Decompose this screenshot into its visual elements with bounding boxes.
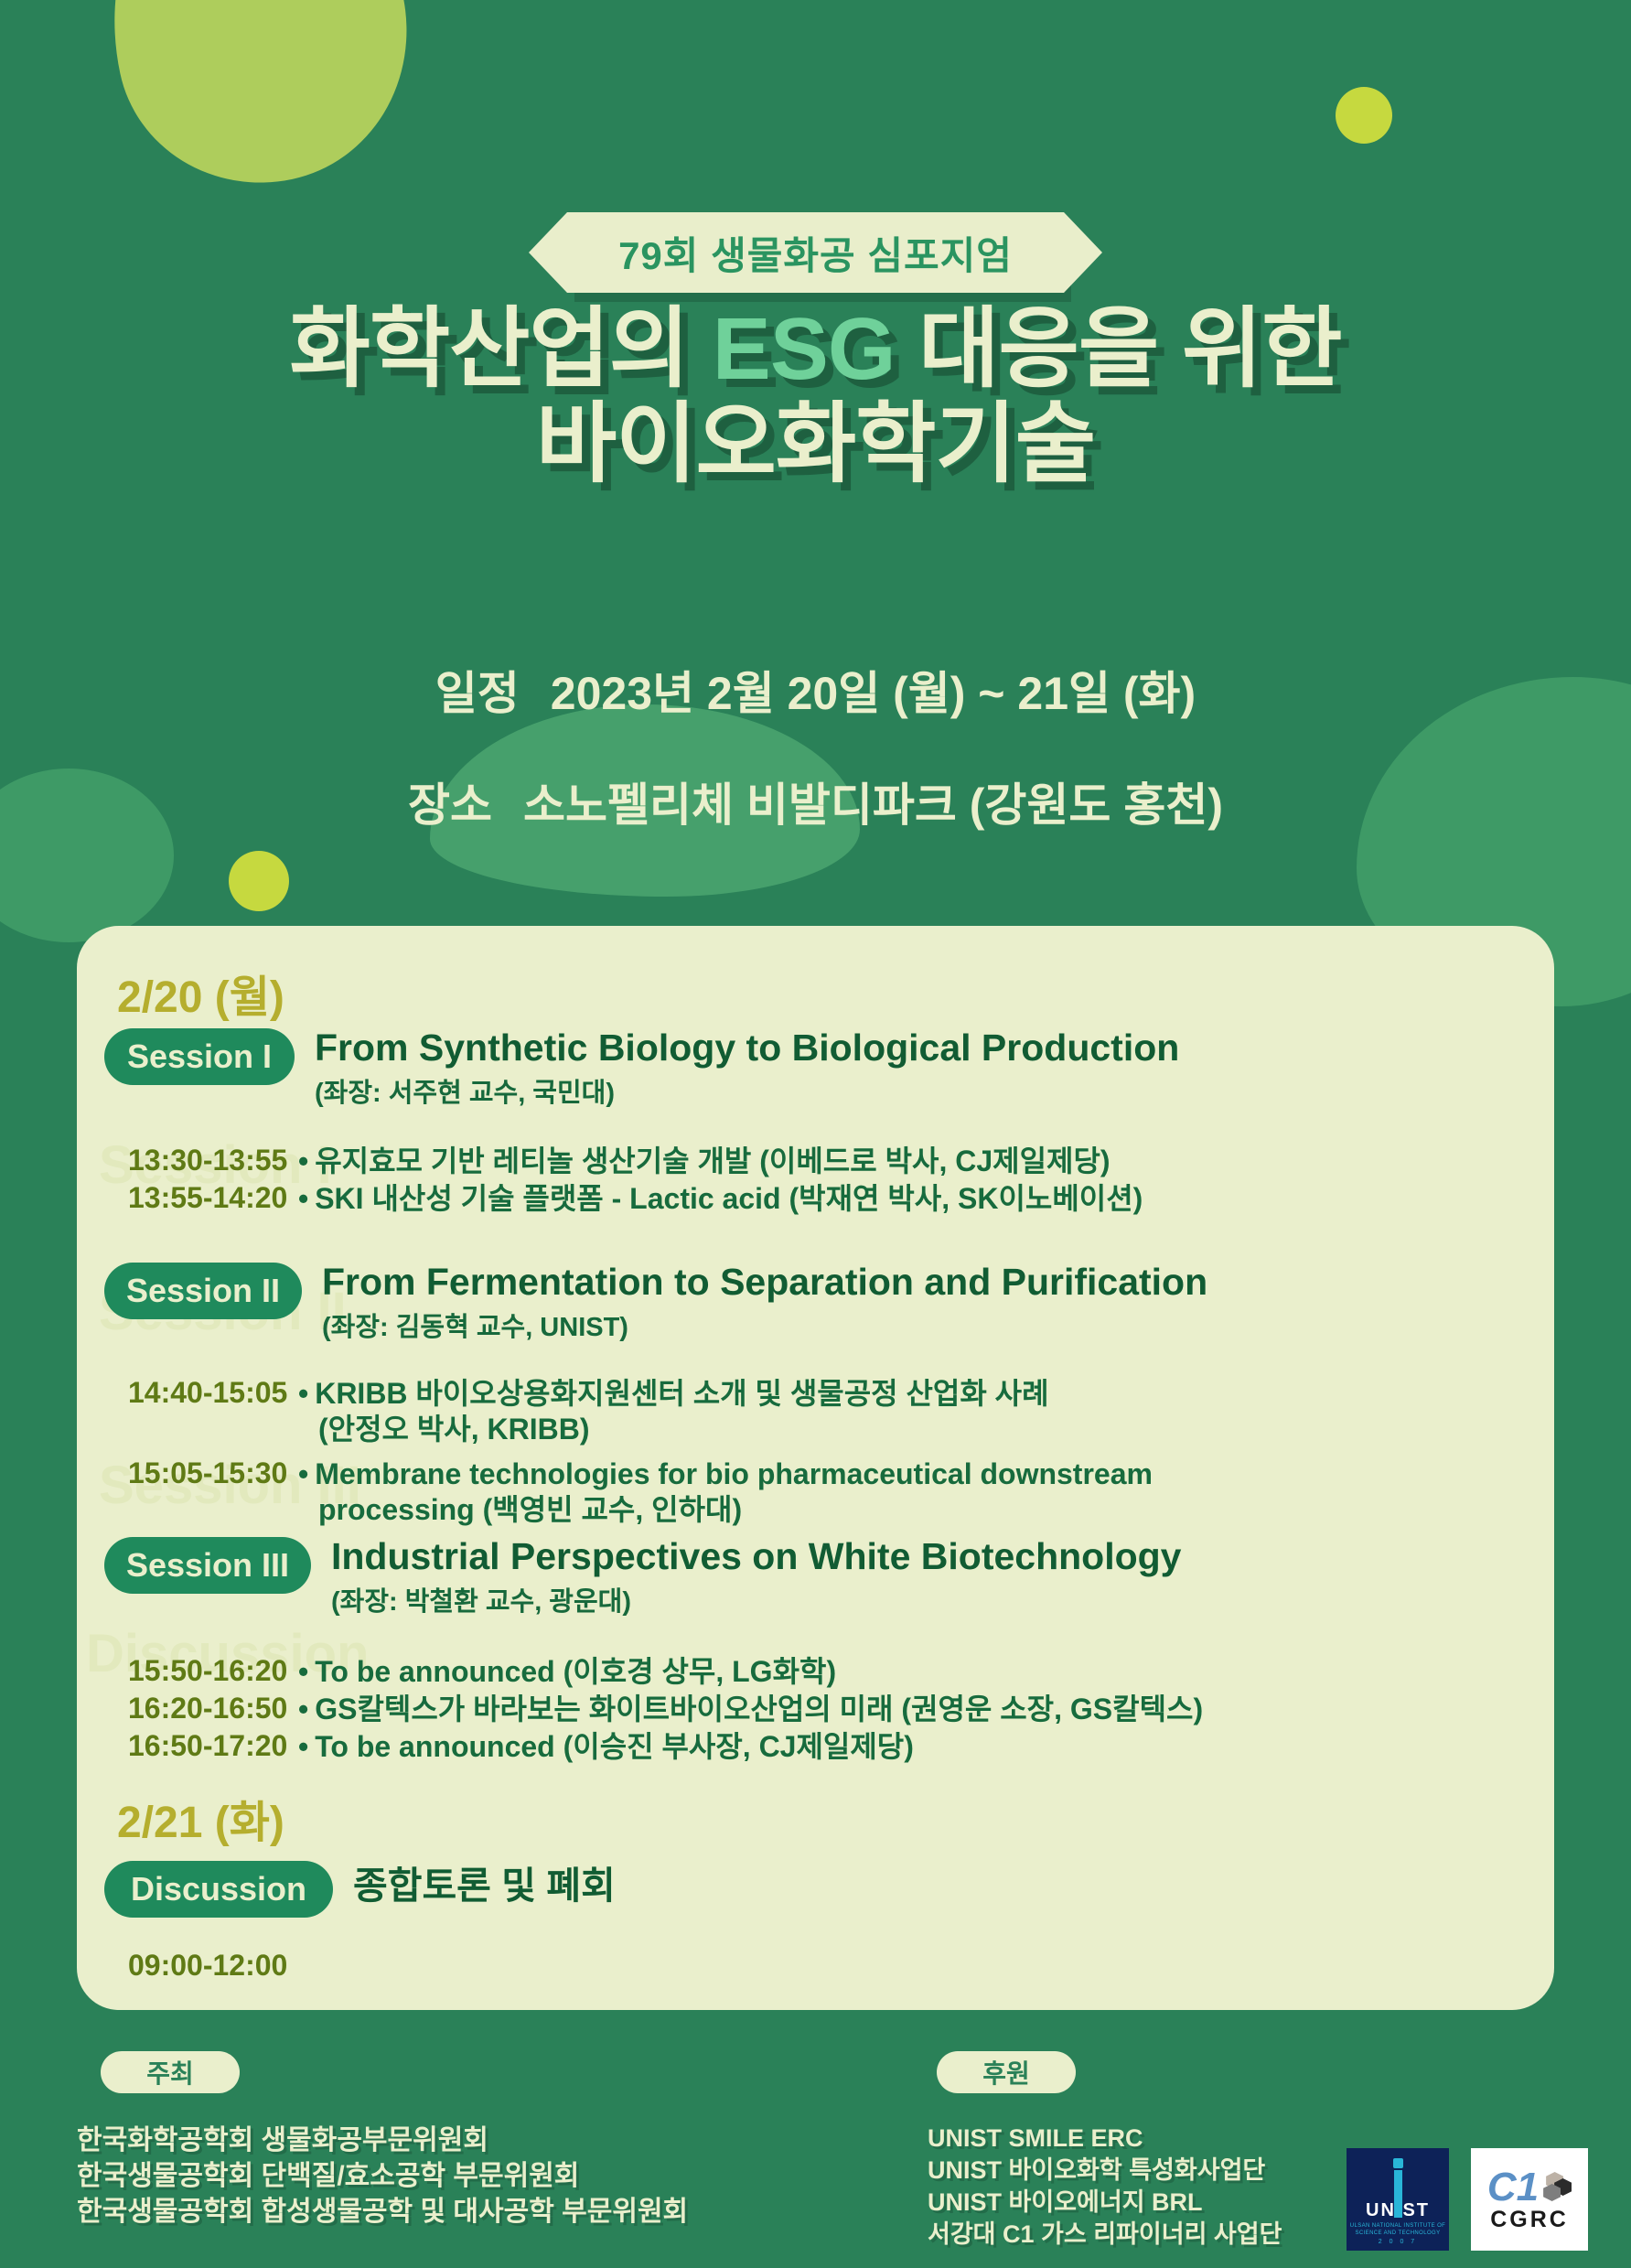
talk-body: •SKI 내산성 기술 플랫폼 - Lactic acid (박재연 박사, S… xyxy=(298,1181,1143,1217)
talk-time: 15:05-15:30 xyxy=(104,1456,298,1490)
talk-body: •유지효모 기반 레티놀 생산기술 개발 (이베드로 박사, CJ제일제당) xyxy=(298,1144,1111,1179)
session-3-text: Industrial Perspectives on White Biotech… xyxy=(331,1537,1182,1618)
session-2-title: From Fermentation to Separation and Puri… xyxy=(322,1263,1207,1302)
talk-text: GS칼텍스가 바라보는 화이트바이오산업의 미래 (권영운 소장, GS칼텍스) xyxy=(315,1693,1203,1725)
bullet-icon: • xyxy=(298,1457,308,1490)
talk-body: •To be announced (이승진 부사장, CJ제일제당) xyxy=(298,1729,914,1765)
talk-row: 15:05-15:30 •Membrane technologies for b… xyxy=(104,1456,1153,1528)
talk-time: 15:50-16:20 xyxy=(104,1654,298,1688)
talk-time: 16:20-16:50 xyxy=(104,1692,298,1725)
discussion-title: 종합토론 및 폐회 xyxy=(353,1861,616,1906)
session-2-badge[interactable]: Session II xyxy=(104,1263,302,1319)
talk-text: 유지효모 기반 레티놀 생산기술 개발 (이베드로 박사, CJ제일제당) xyxy=(315,1145,1110,1177)
discussion-time: 09:00-12:00 xyxy=(104,1949,287,1983)
bullet-icon: • xyxy=(298,1730,308,1763)
blob-top-left-lime xyxy=(77,0,435,210)
session-1-chair: (좌장: 서주현 교수, 국민대) xyxy=(315,1071,1179,1110)
sponsor-line: UNIST SMILE ERC xyxy=(928,2123,1282,2155)
day1-heading: 2/20 (월) xyxy=(117,961,284,1025)
dot-top-right-lime xyxy=(1336,87,1392,144)
date-label: 일정 xyxy=(435,668,520,719)
ribbon-shape: 79회 생물화공 심포지엄 xyxy=(567,212,1064,293)
sponsor-tag: 후원 xyxy=(937,2051,1076,2093)
talk-row: 16:20-16:50 •GS칼텍스가 바라보는 화이트바이오산업의 미래 (권… xyxy=(104,1692,1203,1727)
sponsor-line: UNIST 바이오에너지 BRL xyxy=(928,2187,1282,2219)
bullet-icon: • xyxy=(298,1693,308,1725)
talk-time: 16:50-17:20 xyxy=(104,1729,298,1763)
session-1-header: Session I From Synthetic Biology to Biol… xyxy=(104,1028,1179,1110)
talk-text: SKI 내산성 기술 플랫폼 - Lactic acid (박재연 박사, SK… xyxy=(315,1182,1143,1215)
title-line-2: 바이오화학기술 xyxy=(0,397,1631,492)
talk-text: Membrane technologies for bio pharmaceut… xyxy=(315,1457,1153,1490)
date-value: 2023년 2월 20일 (월) ~ 21일 (화) xyxy=(551,668,1196,719)
session-1-text: From Synthetic Biology to Biological Pro… xyxy=(315,1028,1179,1110)
session-2-chair: (좌장: 김동혁 교수, UNIST) xyxy=(322,1306,1207,1344)
talk-continuation: (안정오 박사, KRIBB) xyxy=(298,1412,1049,1447)
talk-continuation: processing (백영빈 교수, 인하대) xyxy=(298,1492,1153,1528)
bullet-icon: • xyxy=(298,1655,308,1688)
talk-body: •To be announced (이호경 상무, LG화학) xyxy=(298,1654,836,1690)
talk-text: To be announced (이호경 상무, LG화학) xyxy=(315,1655,836,1688)
session-3-talks: 15:50-16:20 •To be announced (이호경 상무, LG… xyxy=(104,1654,1203,1767)
bullet-icon: • xyxy=(298,1377,308,1410)
ribbon-label: 79회 생물화공 심포지엄 xyxy=(618,225,1013,281)
session-2-talks: 14:40-15:05 •KRIBB 바이오상용화지원센터 소개 및 생물공정 … xyxy=(104,1376,1153,1530)
talk-row: 13:55-14:20 •SKI 내산성 기술 플랫폼 - Lactic aci… xyxy=(104,1181,1143,1217)
program-card: Session I Session II Session III Discuss… xyxy=(77,926,1554,2010)
talk-body: •GS칼텍스가 바라보는 화이트바이오산업의 미래 (권영운 소장, GS칼텍스… xyxy=(298,1692,1203,1727)
host-organizations: 한국화학공학회 생물화공부문위원회 한국생물공학회 단백질/효소공학 부문위원회… xyxy=(77,2123,688,2230)
place-value: 소노펠리체 비발디파크 (강원도 홍천) xyxy=(523,779,1223,831)
session-1-talks: 13:30-13:55 •유지효모 기반 레티놀 생산기술 개발 (이베드로 박… xyxy=(104,1144,1143,1219)
talk-body: •Membrane technologies for bio pharmaceu… xyxy=(298,1456,1153,1528)
sponsor-line: 서강대 C1 가스 리파이너리 사업단 xyxy=(928,2219,1282,2251)
event-ribbon: 79회 생물화공 심포지엄 xyxy=(0,212,1631,293)
sponsor-organizations: UNIST SMILE ERC UNIST 바이오화학 특성화사업단 UNIST… xyxy=(928,2123,1282,2251)
talk-text: To be announced (이승진 부사장, CJ제일제당) xyxy=(315,1730,914,1763)
talk-row: 16:50-17:20 •To be announced (이승진 부사장, C… xyxy=(104,1729,1203,1765)
session-2-text: From Fermentation to Separation and Puri… xyxy=(322,1263,1207,1344)
bullet-icon: • xyxy=(298,1145,308,1177)
title-esg-highlight: ESG xyxy=(713,300,896,398)
title-part-b: 대응을 위한 xyxy=(896,300,1342,398)
discussion-text: 종합토론 및 폐회 xyxy=(353,1861,616,1906)
talk-row: 13:30-13:55 •유지효모 기반 레티놀 생산기술 개발 (이베드로 박… xyxy=(104,1144,1143,1179)
host-line: 한국화학공학회 생물화공부문위원회 xyxy=(77,2123,688,2158)
talk-time: 13:55-14:20 xyxy=(104,1181,298,1215)
host-tag: 주최 xyxy=(101,2051,240,2093)
talk-text: KRIBB 바이오상용화지원센터 소개 및 생물공정 산업화 사례 xyxy=(315,1377,1048,1410)
title-part-a: 화학산업의 xyxy=(290,300,713,398)
event-date-row: 일정2023년 2월 20일 (월) ~ 21일 (화) xyxy=(0,657,1631,723)
host-line: 한국생물공학회 단백질/효소공학 부문위원회 xyxy=(77,2158,688,2194)
session-3-header: Session III Industrial Perspectives on W… xyxy=(104,1537,1182,1618)
talk-row: 15:50-16:20 •To be announced (이호경 상무, LG… xyxy=(104,1654,1203,1690)
session-2-header: Session II From Fermentation to Separati… xyxy=(104,1263,1207,1344)
bullet-icon: • xyxy=(298,1182,308,1215)
session-1-badge[interactable]: Session I xyxy=(104,1028,295,1085)
poster-footer: 주최 후원 한국화학공학회 생물화공부문위원회 한국생물공학회 단백질/효소공학… xyxy=(0,2042,1631,2268)
talk-time: 13:30-13:55 xyxy=(104,1144,298,1177)
session-3-chair: (좌장: 박철환 교수, 광운대) xyxy=(331,1580,1182,1618)
discussion-badge[interactable]: Discussion xyxy=(104,1861,333,1918)
title-line-1: 화학산업의 ESG 대응을 위한 xyxy=(0,302,1631,397)
talk-time: 14:40-15:05 xyxy=(104,1376,298,1410)
sponsor-line: UNIST 바이오화학 특성화사업단 xyxy=(928,2155,1282,2187)
event-place-row: 장소소노펠리체 비발디파크 (강원도 홍천) xyxy=(0,769,1631,834)
place-label: 장소 xyxy=(408,779,492,831)
host-line: 한국생물공학회 합성생물공학 및 대사공학 부문위원회 xyxy=(77,2194,688,2230)
talk-row: 14:40-15:05 •KRIBB 바이오상용화지원센터 소개 및 생물공정 … xyxy=(104,1376,1153,1447)
discussion-header: Discussion 종합토론 및 폐회 xyxy=(104,1861,616,1918)
session-3-badge[interactable]: Session III xyxy=(104,1537,311,1594)
session-3-title: Industrial Perspectives on White Biotech… xyxy=(331,1537,1182,1576)
session-1-title: From Synthetic Biology to Biological Pro… xyxy=(315,1028,1179,1068)
dot-left-lime xyxy=(229,851,289,911)
talk-body: •KRIBB 바이오상용화지원센터 소개 및 생물공정 산업화 사례(안정오 박… xyxy=(298,1376,1049,1447)
day2-heading: 2/21 (화) xyxy=(117,1786,284,1850)
poster-title: 화학산업의 ESG 대응을 위한 바이오화학기술 xyxy=(0,302,1631,491)
